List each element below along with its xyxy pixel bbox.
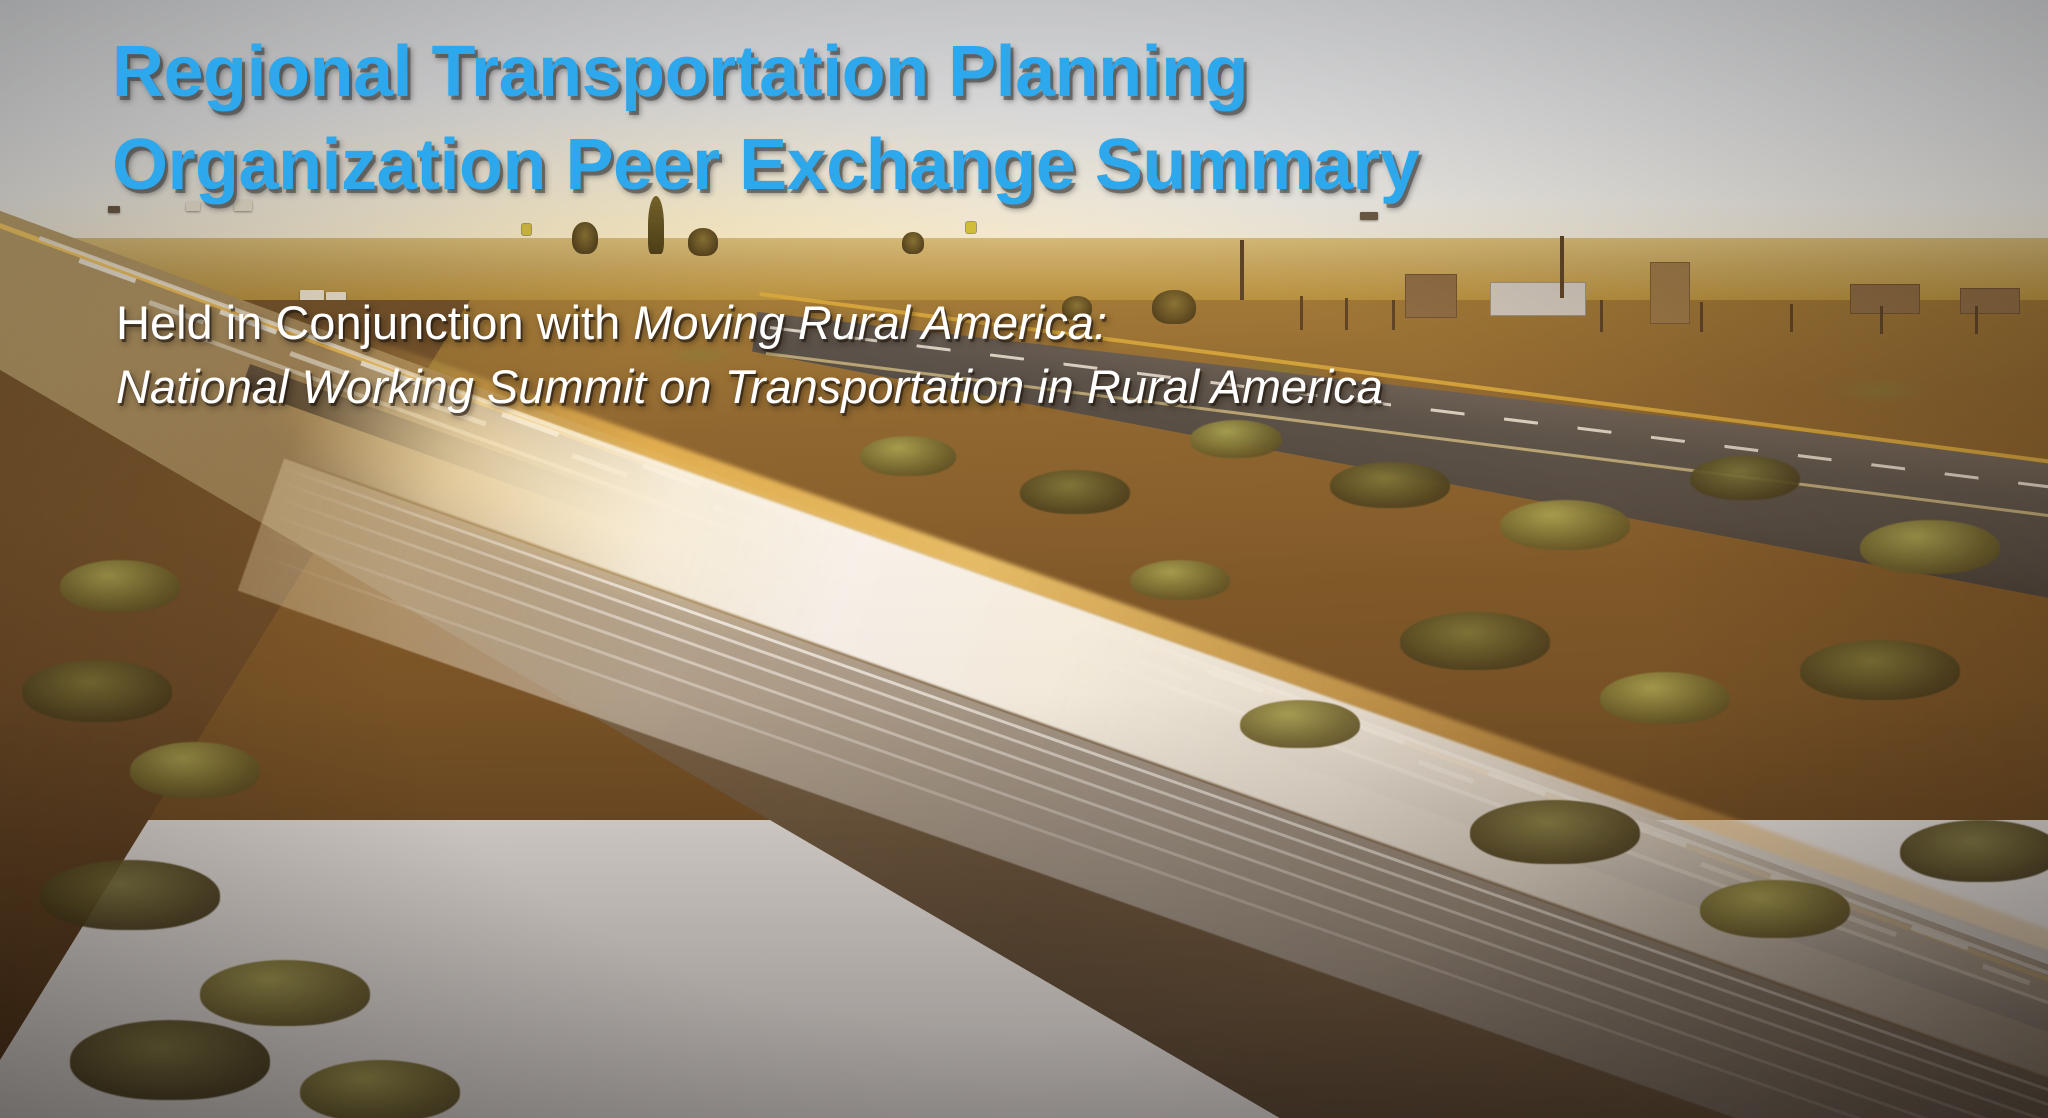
road-sign (522, 224, 531, 235)
roadside-scrub (1190, 420, 1282, 458)
roadside-scrub (1860, 520, 2000, 574)
roadside-scrub (300, 1060, 460, 1118)
page-subtitle: Held in Conjunction with Moving Rural Am… (116, 291, 1936, 419)
utility-pole (1560, 236, 1564, 298)
roadside-scrub (1400, 612, 1550, 670)
roadside-scrub (1020, 470, 1130, 514)
roadside-scrub (1130, 560, 1230, 600)
roadside-scrub (60, 560, 180, 612)
road-sign (966, 222, 976, 233)
roadside-scrub (1800, 640, 1960, 700)
roadside-scrub (70, 1020, 270, 1100)
roadside-scrub (200, 960, 370, 1026)
title-line-2: Organization Peer Exchange Summary (112, 119, 1912, 212)
title-line-1: Regional Transportation Planning (112, 26, 1912, 119)
subtitle-line-2: National Working Summit on Transportatio… (116, 355, 1936, 419)
roadside-scrub (1500, 500, 1630, 550)
fence-post (1975, 306, 1978, 334)
distant-car (1360, 212, 1378, 220)
roadside-scrub (1470, 800, 1640, 864)
bush-tree (572, 222, 598, 254)
roadside-scrub (22, 660, 172, 722)
roadside-scrub (1240, 700, 1360, 748)
bush-tree (902, 232, 924, 254)
roadside-scrub (1900, 820, 2048, 882)
subtitle-roman-text: Held in Conjunction with (116, 296, 633, 349)
bush-tree (688, 228, 718, 256)
roadside-scrub (40, 860, 220, 930)
roadside-scrub (1700, 880, 1850, 938)
roadside-scrub (1600, 672, 1730, 724)
roadside-scrub (1690, 456, 1800, 500)
roadside-scrub (130, 742, 260, 798)
subtitle-line-1: Held in Conjunction with Moving Rural Am… (116, 291, 1936, 355)
roadside-scrub (1330, 462, 1450, 508)
roadside-scrub (860, 436, 956, 476)
report-cover-page: Regional Transportation Planning Organiz… (0, 0, 2048, 1118)
subtitle-italic-text: Moving Rural America: (633, 296, 1107, 349)
building-far-right (1960, 288, 2020, 314)
page-title: Regional Transportation Planning Organiz… (112, 26, 1912, 212)
